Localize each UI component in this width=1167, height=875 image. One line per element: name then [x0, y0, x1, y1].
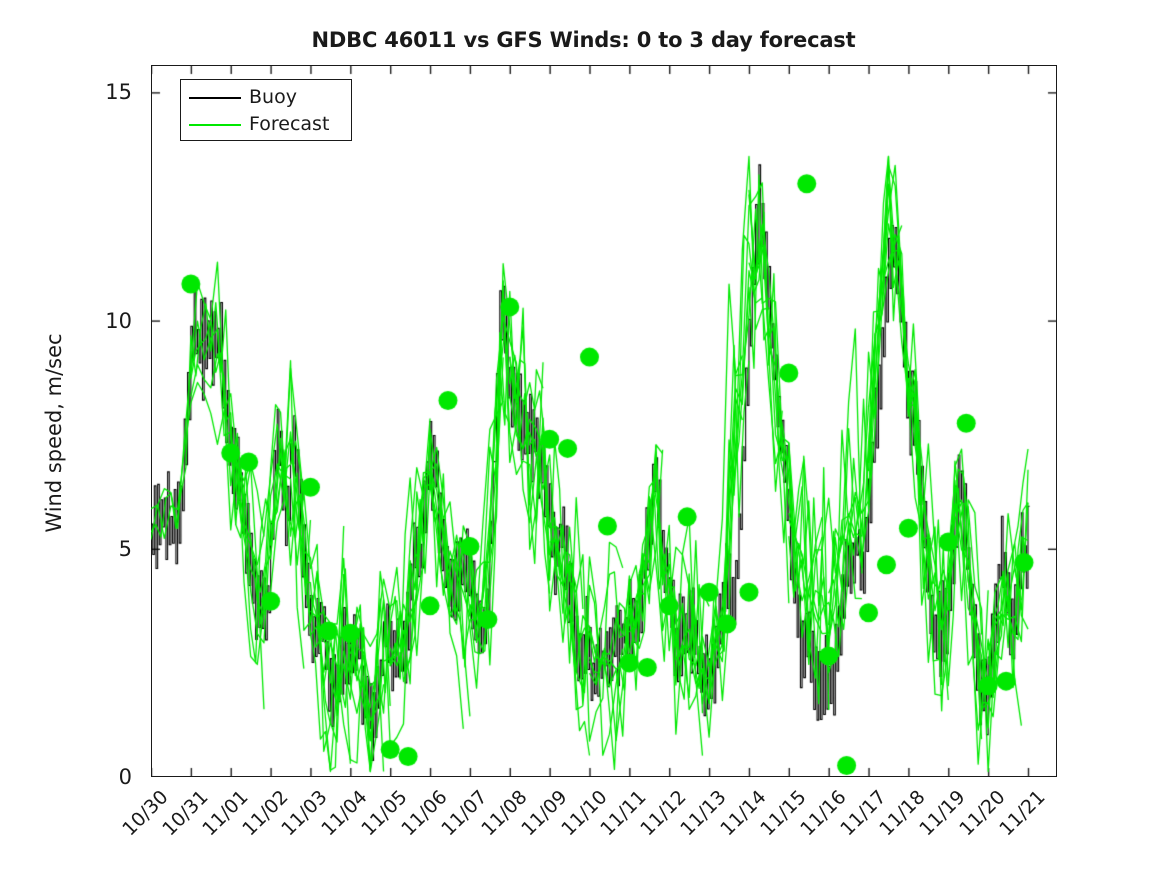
legend-label-forecast: Forecast: [249, 115, 329, 134]
chart-page: NDBC 46011 vs GFS Winds: 0 to 3 day fore…: [0, 0, 1167, 875]
legend-item-forecast: Forecast: [181, 111, 351, 138]
chart-plot-area: [151, 65, 1057, 777]
page-title: NDBC 46011 vs GFS Winds: 0 to 3 day fore…: [0, 28, 1167, 52]
y-axis-label: Wind speed, m/sec: [42, 183, 66, 683]
y-tick-label: 10: [105, 309, 132, 333]
y-tick-label: 0: [119, 765, 132, 789]
legend-swatch-buoy: [189, 97, 241, 99]
legend-label-buoy: Buoy: [249, 88, 297, 107]
legend-swatch-forecast: [189, 124, 241, 126]
y-tick-label: 5: [119, 537, 132, 561]
legend-item-buoy: Buoy: [181, 84, 351, 111]
chart-legend: Buoy Forecast: [180, 79, 352, 141]
y-tick-label: 15: [105, 80, 132, 104]
